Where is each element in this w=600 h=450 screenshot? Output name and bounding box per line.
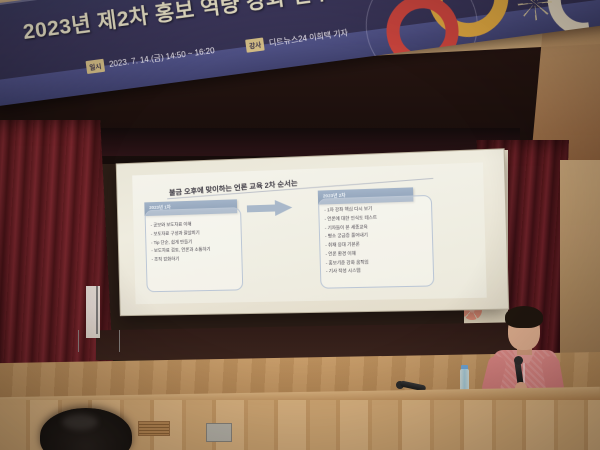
banner-speaker-tag: 강사 — [245, 37, 265, 52]
presentation-slide: 불금 오후에 맞이하는 언론 교육 2차 순서는 2023년 1차 - 공보와 … — [132, 162, 487, 304]
banner-sub-spacer — [219, 46, 241, 49]
floor-vent-grille — [138, 421, 170, 436]
microphone-stand-base — [78, 330, 120, 352]
wall-plate — [206, 423, 232, 442]
slide-right-column-list: - 1차 강좌 핵심 다시 보기- 언론에 대한 인식도 테스트- 기자들이 본… — [324, 203, 430, 277]
stage-backwall — [96, 322, 526, 360]
presenter-hair — [505, 306, 543, 328]
presenter-microphone-head-icon — [514, 356, 523, 365]
slide-left-column-list: - 공보와 보도자료 이해- 보도자료 구성과 잘살피기- Tip 단순, 쉽게… — [151, 219, 239, 264]
right-arrow-icon — [247, 199, 293, 216]
microphone-stand-pole — [96, 286, 98, 334]
auditorium-photo: 불금 오후에 맞이하는 언론 교육 2차 순서는 2023년 1차 - 공보와 … — [0, 0, 600, 450]
audience-head-highlight — [62, 414, 98, 430]
banner-datetime-tag: 일시 — [85, 58, 105, 73]
projection-screen: 불금 오후에 맞이하는 언론 교육 2차 순서는 2023년 1차 - 공보와 … — [116, 148, 509, 316]
